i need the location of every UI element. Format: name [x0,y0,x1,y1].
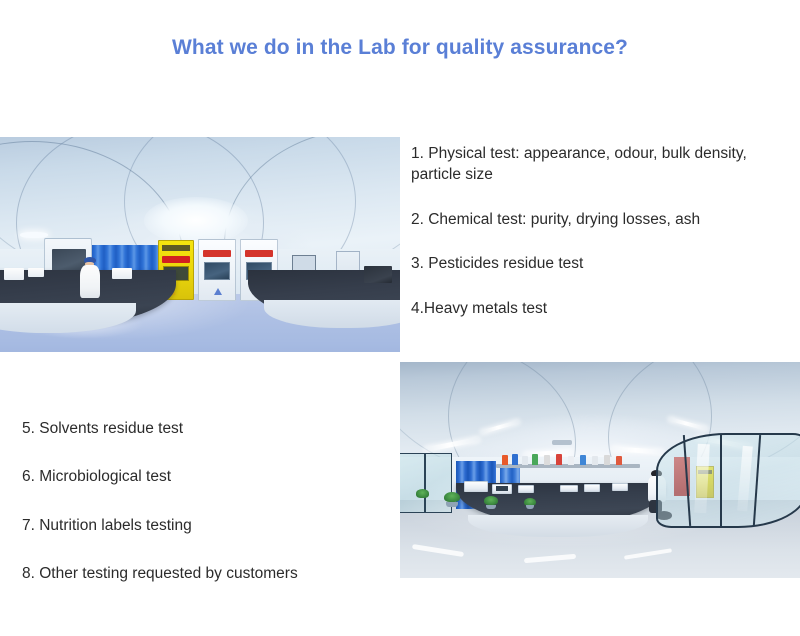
potted-plant [484,496,498,506]
reagent-bottle [522,456,528,465]
lab-instrument [518,485,534,493]
cabinet-warning-label [245,250,273,257]
glass-partition-mullion [720,435,722,526]
ceiling-air-vent [552,440,572,445]
glass-partition-left [400,453,452,513]
reagent-bottle [616,456,622,465]
instrument-display [496,486,508,491]
list-item: 1. Physical test: appearance, odour, bul… [411,143,800,186]
lab-instrument [584,484,600,492]
list-item: 8. Other testing requested by customers [22,563,397,584]
cabinet-warning-label [203,250,231,257]
list-item: 5. Solvents residue test [22,418,397,439]
list-item: 2. Chemical test: purity, drying losses,… [411,209,800,230]
lab-instrument [28,268,44,277]
reagent-bottle [580,455,586,465]
reagent-bottle [544,455,550,465]
computer-monitor [364,266,392,283]
cabinet-warning-label [162,256,189,263]
list-item: 7. Nutrition labels testing [22,515,397,536]
list-item: 3. Pesticides residue test [411,253,800,274]
reagent-bottle [592,456,598,465]
ceiling-lamp [20,232,48,238]
hazard-triangle-icon [214,288,222,295]
lab-technician [80,257,100,298]
technician-lab-coat [80,265,99,298]
potted-plant [444,492,460,503]
reagent-bottle [556,454,562,465]
lab-instrument [4,268,24,280]
potted-plant [416,489,429,498]
curved-glass-partition-right [656,433,800,528]
cabinet-window [204,262,230,280]
lab-instrument [612,483,628,491]
lab-instrument [560,485,578,492]
test-list-left: 5. Solvents residue test 6. Microbiologi… [22,418,397,612]
list-item: 4.Heavy metals test [411,298,800,319]
reagent-bottle [532,454,538,464]
plant-pot [486,505,496,509]
plant-pot [446,502,457,507]
cabinet-label [162,245,190,251]
slide-root: What we do in the Lab for quality assura… [0,0,800,636]
lab-instrument [464,481,488,492]
glass-partition-mullion [424,453,426,513]
reagent-bottle [502,455,508,465]
reagent-bottle [604,455,610,465]
lab-instrument [112,268,132,279]
list-item: 6. Microbiological test [22,466,397,487]
page-title: What we do in the Lab for quality assura… [0,36,800,60]
test-list-right: 1. Physical test: appearance, odour, bul… [411,143,800,319]
laboratory-cleanroom-panorama-image [0,137,400,352]
laboratory-open-lab-panorama-image [400,362,800,578]
reagent-bottle [512,454,518,465]
reagent-bottle [568,456,574,465]
